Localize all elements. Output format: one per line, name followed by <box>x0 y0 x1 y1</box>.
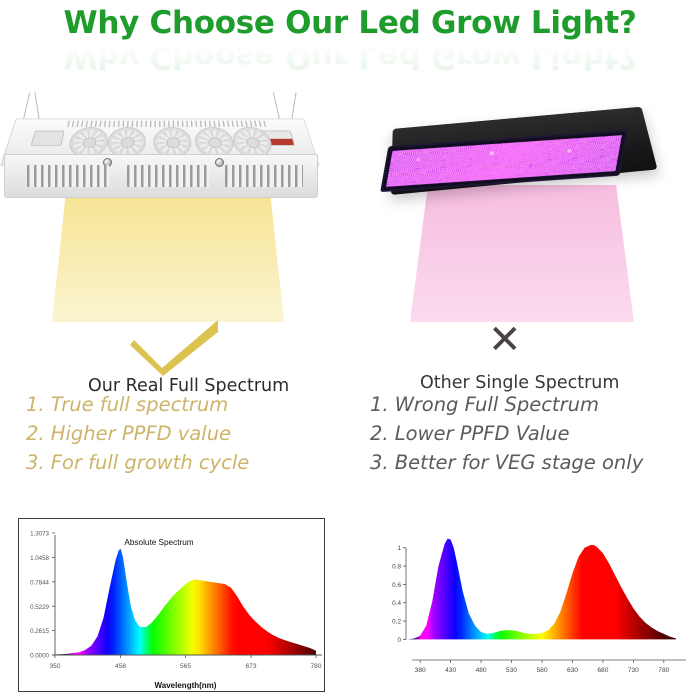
svg-text:0.6: 0.6 <box>392 582 401 589</box>
svg-text:1: 1 <box>397 545 401 552</box>
svg-text:565: 565 <box>180 663 191 670</box>
svg-text:1.0458: 1.0458 <box>30 555 49 562</box>
svg-text:480: 480 <box>476 667 487 674</box>
svg-text:0.4: 0.4 <box>392 600 401 607</box>
list-item: 3. For full growth cycle <box>26 448 249 477</box>
label-plate <box>31 131 65 146</box>
list-item: 2. Lower PPFD Value <box>370 419 643 448</box>
screw-icon <box>215 158 224 167</box>
air-grille <box>127 165 209 187</box>
svg-text:0.2615: 0.2615 <box>30 628 49 635</box>
benefits-list-right: 1. Wrong Full Spectrum 2. Lower PPFD Val… <box>370 390 643 477</box>
svg-text:350: 350 <box>49 663 60 670</box>
comparison-left-panel <box>0 92 350 322</box>
svg-text:680: 680 <box>597 667 608 674</box>
svg-text:580: 580 <box>536 667 547 674</box>
svg-text:0.5229: 0.5229 <box>30 604 49 611</box>
benefits-list-left: 1. True full spectrum 2. Higher PPFD val… <box>26 390 249 477</box>
comparison-right-panel <box>350 92 700 322</box>
svg-text:0.8: 0.8 <box>392 563 401 570</box>
comparison-section: ✕ Our Real Full Spectrum Other Single Sp… <box>0 92 700 322</box>
svg-text:380: 380 <box>415 667 426 674</box>
cross-icon: ✕ <box>488 320 522 360</box>
black-led-grow-light-image <box>380 102 670 217</box>
svg-text:0.2: 0.2 <box>392 618 401 625</box>
air-grille <box>225 165 303 187</box>
svg-text:1.3073: 1.3073 <box>30 531 49 538</box>
svg-text:530: 530 <box>506 667 517 674</box>
svg-text:Wavelength(nm): Wavelength(nm) <box>155 681 217 690</box>
svg-text:780: 780 <box>658 667 669 674</box>
page-title-reflection: Why Choose Our Led Grow Light? <box>0 41 700 72</box>
svg-text:730: 730 <box>628 667 639 674</box>
list-item: 1. Wrong Full Spectrum <box>370 390 643 419</box>
list-item: 3. Better for VEG stage only <box>370 448 643 477</box>
page-title: Why Choose Our Led Grow Light? <box>0 8 700 39</box>
svg-text:630: 630 <box>567 667 578 674</box>
svg-text:0.7844: 0.7844 <box>30 579 49 586</box>
spectrum-chart-right: 00.20.40.60.8138043048053058063068073078… <box>368 520 688 690</box>
white-led-grow-light-image <box>0 96 324 211</box>
light-beam-yellow <box>52 192 284 322</box>
fixture-front-face <box>4 154 318 198</box>
list-item: 2. Higher PPFD value <box>26 419 249 448</box>
svg-text:0: 0 <box>397 637 401 644</box>
svg-text:0.0000: 0.0000 <box>30 653 49 660</box>
promo-infographic: Why Choose Our Led Grow Light? Why Choos… <box>0 0 700 700</box>
list-item: 1. True full spectrum <box>26 390 249 419</box>
svg-text:673: 673 <box>246 663 257 670</box>
header: Why Choose Our Led Grow Light? Why Choos… <box>0 8 700 88</box>
spectrum-chart-left: 0.00000.26150.52290.78441.04581.30733504… <box>18 518 325 692</box>
svg-text:458: 458 <box>115 663 126 670</box>
svg-text:430: 430 <box>445 667 456 674</box>
svg-text:Absolute Spectrum: Absolute Spectrum <box>124 538 193 547</box>
checkmark-icon <box>128 318 224 376</box>
air-grille <box>27 165 109 187</box>
svg-text:780: 780 <box>310 663 321 670</box>
vent-slots <box>67 121 267 127</box>
